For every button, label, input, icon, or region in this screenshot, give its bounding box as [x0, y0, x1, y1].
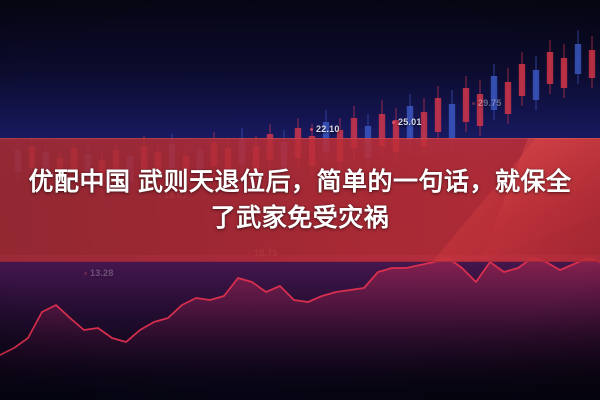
price-label: 22.10 — [310, 124, 340, 134]
news-thumbnail: 13.2818.0718.7522.1025.0129.75 优配中国 武则天退… — [0, 0, 600, 400]
candle-body — [547, 52, 553, 84]
price-label: 29.75 — [472, 98, 502, 108]
candle-body — [463, 88, 469, 122]
price-marker-dot — [84, 272, 87, 275]
price-label-text: 13.28 — [90, 268, 114, 278]
candle-body — [589, 50, 595, 78]
price-marker-dot — [472, 102, 475, 105]
candle-body — [561, 58, 567, 88]
price-label: 13.28 — [84, 268, 114, 278]
headline-line-1: 优配中国 武则天退位后，简单的一句话，就保全 — [29, 165, 572, 200]
price-marker-dot — [310, 128, 313, 131]
headline-text-block: 优配中国 武则天退位后，简单的一句话，就保全 了武家免受灾祸 — [0, 138, 600, 262]
price-label-text: 25.01 — [398, 117, 422, 127]
price-label-text: 29.75 — [478, 98, 502, 108]
price-label-text: 22.10 — [316, 124, 340, 134]
candle-body — [505, 82, 511, 114]
price-marker-dot — [392, 121, 395, 124]
candle-body — [435, 98, 441, 132]
candle-body — [575, 44, 581, 74]
candle-body — [533, 70, 539, 100]
headline-line-2: 了武家免受灾祸 — [211, 201, 390, 236]
price-label: 25.01 — [392, 117, 422, 127]
candle-body — [449, 104, 455, 138]
candle-body — [519, 64, 525, 96]
